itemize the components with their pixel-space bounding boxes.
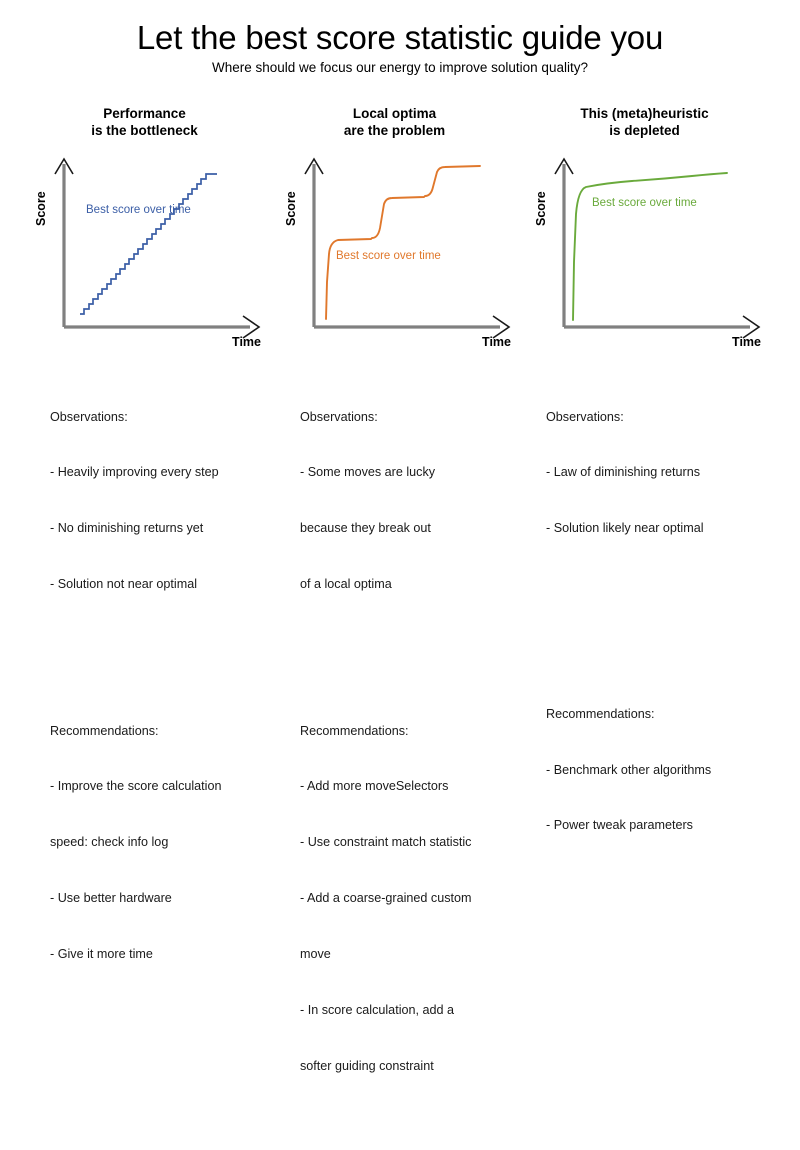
y-axis-label: Score	[34, 191, 48, 226]
recommendations-line: softer guiding constraint	[300, 1057, 532, 1076]
chart-local-optima: Score Time Best score over time	[272, 142, 517, 357]
observations-title: Observations:	[546, 408, 778, 427]
panel-heading-line2: is the bottleneck	[91, 123, 198, 138]
panel-heading-line1: Local optima	[353, 106, 436, 121]
panel-heading: This (meta)heuristic is depleted	[522, 105, 767, 140]
recommendations-title: Recommendations:	[50, 722, 282, 741]
chart-depleted: Score Time Best score over time	[522, 142, 767, 357]
page-title: Let the best score statistic guide you	[0, 20, 800, 56]
notes-local-optima: Observations: - Some moves are lucky bec…	[300, 333, 532, 1150]
series-line-blue	[80, 174, 217, 314]
recommendations-title: Recommendations:	[546, 705, 778, 724]
page-subtitle: Where should we focus our energy to impr…	[0, 60, 800, 75]
recommendations-line: - Benchmark other algorithms	[546, 761, 778, 780]
recommendations-line: - Add more moveSelectors	[300, 777, 532, 796]
observations-line: - Solution likely near optimal	[546, 519, 778, 538]
observations-title: Observations:	[300, 408, 532, 427]
observations-line: - Some moves are lucky	[300, 463, 532, 482]
recommendations-line: - Use better hardware	[50, 889, 282, 908]
panel-heading: Performance is the bottleneck	[22, 105, 267, 140]
observations-block: Observations: - Heavily improving every …	[50, 370, 282, 631]
series-line-orange	[326, 166, 480, 319]
observations-title: Observations:	[50, 408, 282, 427]
series-label-best-score: Best score over time	[592, 197, 697, 209]
observations-line: because they break out	[300, 519, 532, 538]
chart-performance: Score Time Best score over time	[22, 142, 267, 357]
recommendations-line: - Use constraint match statistic	[300, 833, 532, 852]
recommendations-line: - Improve the score calculation	[50, 777, 282, 796]
recommendations-block: Recommendations: - Improve the score cal…	[50, 684, 282, 1001]
column-local-optima: Local optima are the problem Score Time …	[272, 105, 517, 357]
panel-heading-line1: This (meta)heuristic	[580, 106, 708, 121]
series-label-best-score: Best score over time	[336, 250, 441, 262]
notes-depleted: Observations: - Law of diminishing retur…	[546, 333, 778, 910]
recommendations-block: Recommendations: - Benchmark other algor…	[546, 667, 778, 872]
recommendations-title: Recommendations:	[300, 722, 532, 741]
observations-line: - No diminishing returns yet	[50, 519, 282, 538]
observations-line: - Heavily improving every step	[50, 463, 282, 482]
recommendations-line: - Give it more time	[50, 945, 282, 964]
column-depleted: This (meta)heuristic is depleted Score T…	[522, 105, 767, 357]
series-label-best-score: Best score over time	[86, 204, 191, 216]
column-performance: Performance is the bottleneck Score Time…	[22, 105, 267, 357]
notes-performance: Observations: - Heavily improving every …	[50, 333, 282, 1038]
recommendations-line: speed: check info log	[50, 833, 282, 852]
series-line-green	[573, 173, 727, 320]
y-axis-label: Score	[534, 191, 548, 226]
recommendations-line: - In score calculation, add a	[300, 1001, 532, 1020]
recommendations-block: Recommendations: - Add more moveSelector…	[300, 684, 532, 1112]
observations-block: Observations: - Some moves are lucky bec…	[300, 370, 532, 631]
panel-heading: Local optima are the problem	[272, 105, 517, 140]
panel-heading-line1: Performance	[103, 106, 186, 121]
observations-line: - Law of diminishing returns	[546, 463, 778, 482]
y-axis-label: Score	[284, 191, 298, 226]
panel-heading-line2: are the problem	[344, 123, 445, 138]
observations-line: of a local optima	[300, 575, 532, 594]
recommendations-line: - Power tweak parameters	[546, 816, 778, 835]
panel-heading-line2: is depleted	[609, 123, 680, 138]
chart-svg	[22, 142, 267, 357]
chart-svg	[522, 142, 767, 357]
observations-line: - Solution not near optimal	[50, 575, 282, 594]
recommendations-line: - Add a coarse-grained custom	[300, 889, 532, 908]
recommendations-line: move	[300, 945, 532, 964]
observations-block: Observations: - Law of diminishing retur…	[546, 370, 778, 575]
slide-canvas: Let the best score statistic guide you W…	[0, 0, 800, 600]
